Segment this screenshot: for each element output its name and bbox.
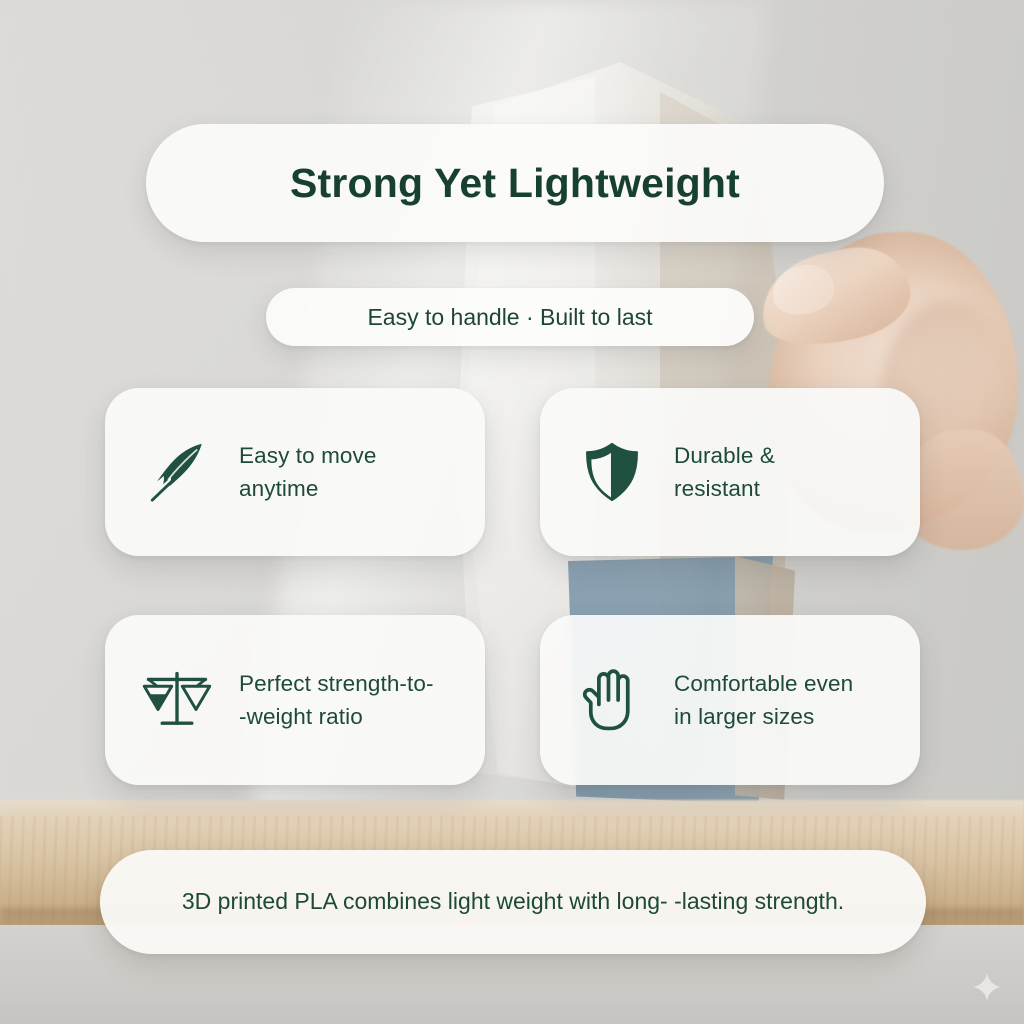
infographic-canvas: Strong Yet Lightweight Easy to handle · …: [0, 0, 1024, 1024]
page-subtitle: Easy to handle · Built to last: [367, 304, 652, 331]
feature-card-line2: resistant: [674, 476, 760, 501]
feature-card-line1: Easy to move: [239, 443, 377, 468]
feature-card-line2: in larger sizes: [674, 704, 814, 729]
feature-card-easy-to-move[interactable]: Easy to move anytime: [105, 388, 485, 556]
hand-icon: [574, 662, 650, 738]
footer-line1: 3D printed PLA combines light weight wit…: [182, 888, 668, 914]
balance-scale-icon: [139, 662, 215, 738]
feather-icon: [139, 434, 215, 510]
feature-card-line1: Perfect strength-to-: [239, 671, 434, 696]
feature-card-strength-to-weight[interactable]: Perfect strength-to- -weight ratio: [105, 615, 485, 785]
feature-card-label: Perfect strength-to- -weight ratio: [239, 667, 434, 734]
subtitle-banner: Easy to handle · Built to last: [266, 288, 754, 346]
feature-card-label: Durable & resistant: [674, 439, 775, 506]
footer-caption: 3D printed PLA combines light weight wit…: [182, 884, 844, 920]
feature-card-line2: anytime: [239, 476, 318, 501]
feature-card-label: Comfortable even in larger sizes: [674, 667, 853, 734]
feature-card-label: Easy to move anytime: [239, 439, 377, 506]
feature-card-durable[interactable]: Durable & resistant: [540, 388, 920, 556]
feature-card-comfortable[interactable]: Comfortable even in larger sizes: [540, 615, 920, 785]
footer-banner: 3D printed PLA combines light weight wit…: [100, 850, 926, 954]
feature-card-line2: -weight ratio: [239, 704, 363, 729]
title-banner: Strong Yet Lightweight: [146, 124, 884, 242]
sparkle-icon: [972, 972, 1002, 1002]
page-title: Strong Yet Lightweight: [290, 160, 740, 207]
feature-card-line1: Durable &: [674, 443, 775, 468]
footer-line2: -lasting strength.: [674, 888, 844, 914]
feature-card-line1: Comfortable even: [674, 671, 853, 696]
shield-icon: [574, 434, 650, 510]
